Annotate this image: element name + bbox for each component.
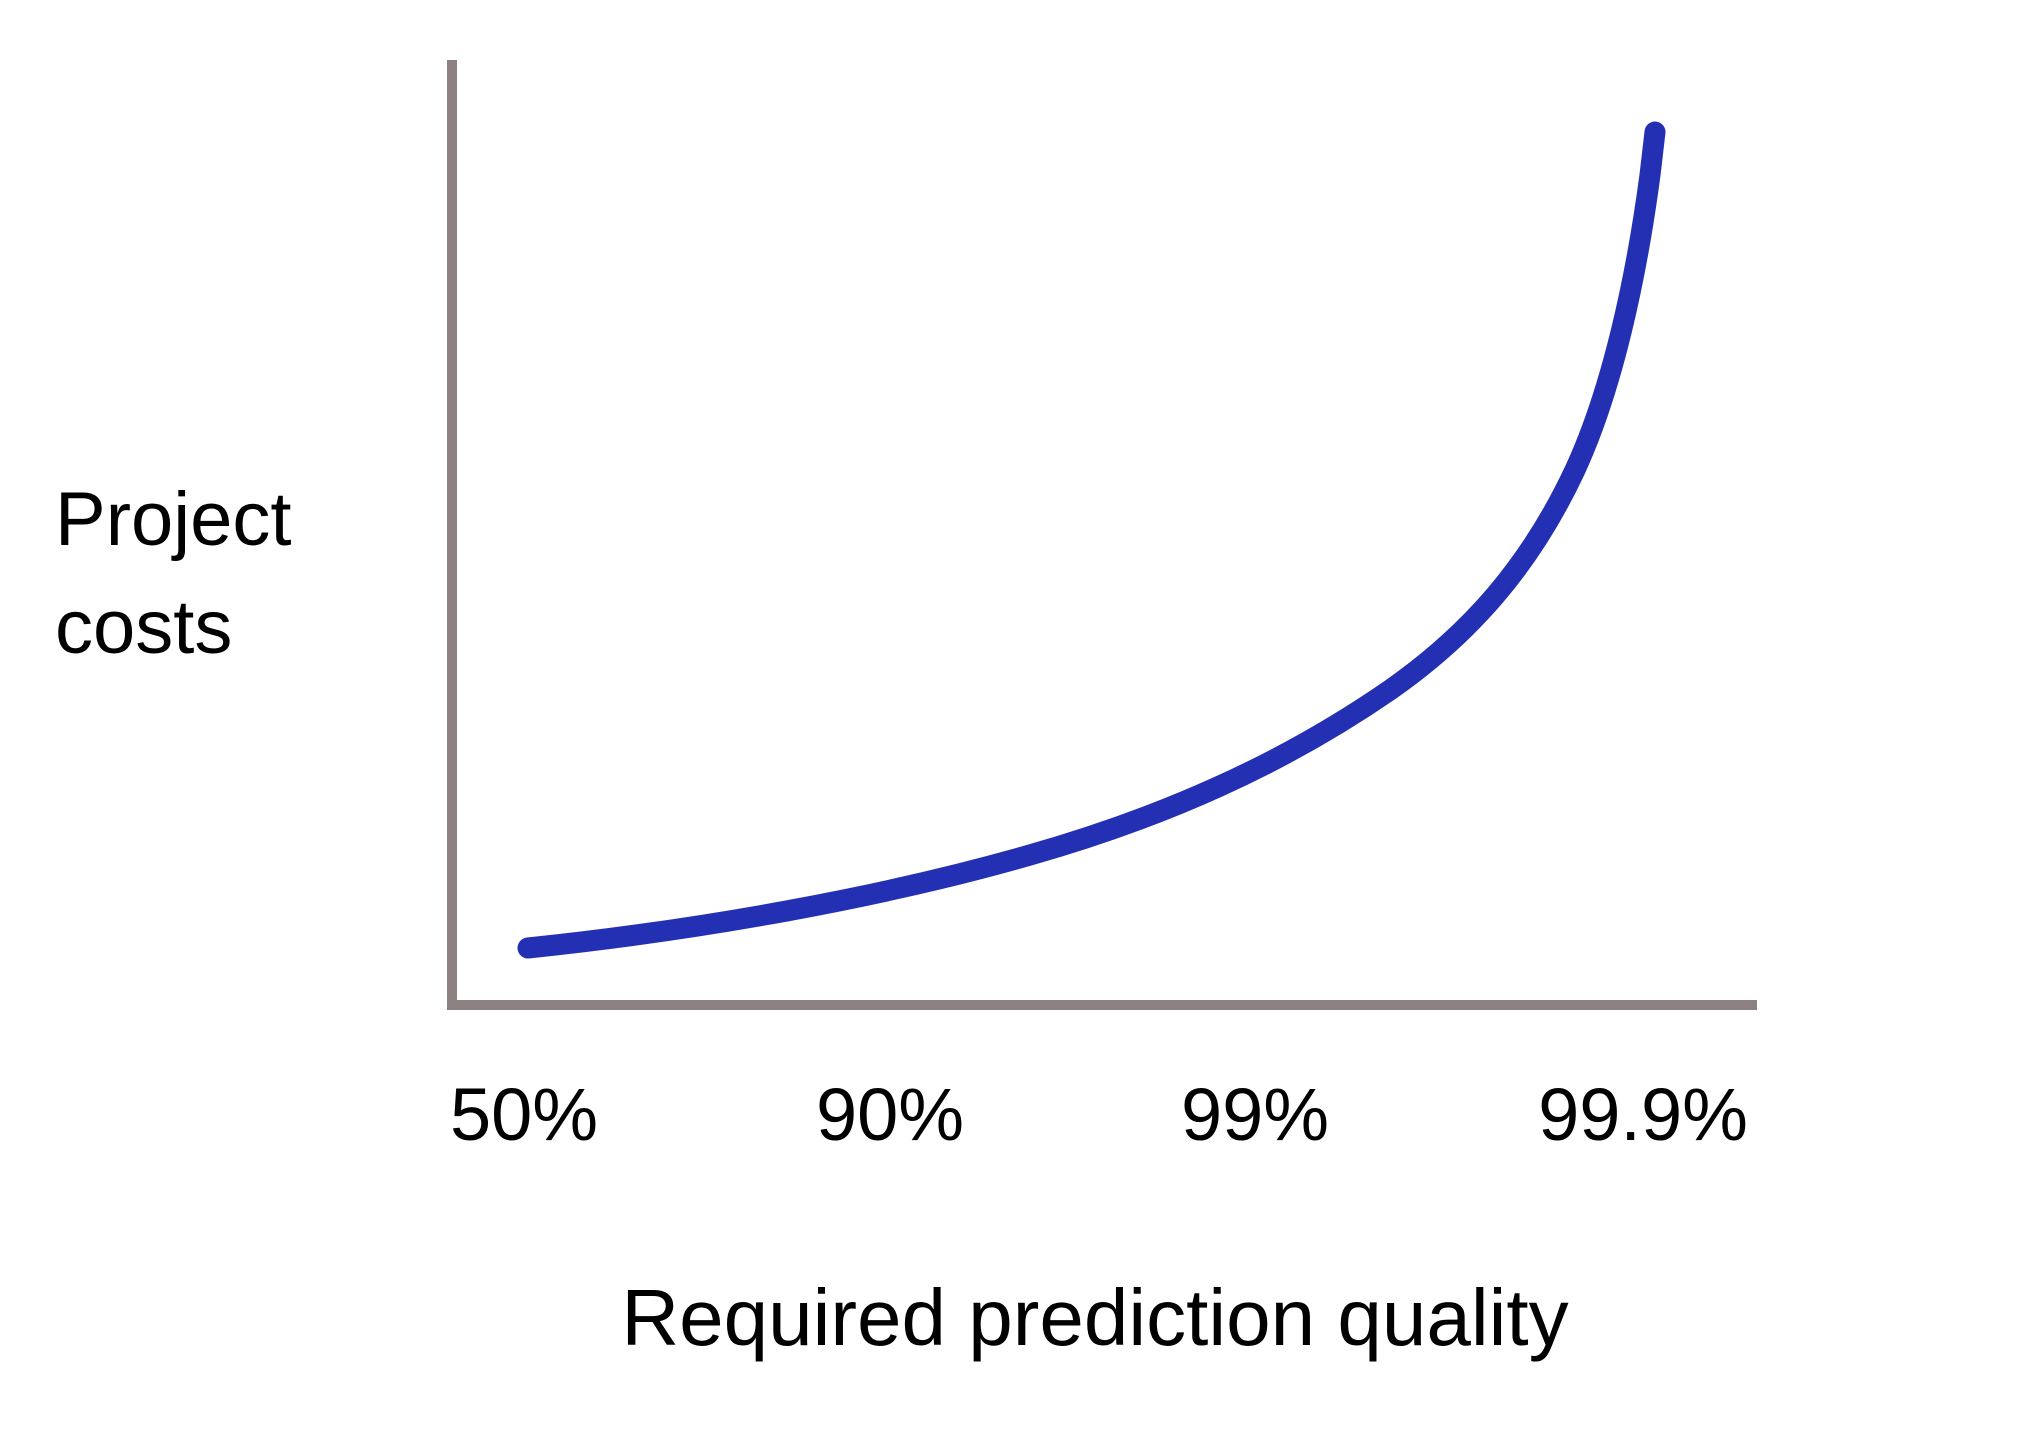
x-tick-label-0: 50% — [450, 1073, 598, 1156]
x-tick-label-2: 99% — [1181, 1073, 1329, 1156]
x-axis-title: Required prediction quality — [621, 1273, 1568, 1362]
chart-background — [0, 0, 2036, 1444]
x-tick-label-1: 90% — [816, 1073, 964, 1156]
project-costs-line-chart: 50% 90% 99% 99.9% Project costs Required… — [0, 0, 2036, 1444]
chart-canvas: 50% 90% 99% 99.9% Project costs Required… — [0, 0, 2036, 1444]
y-axis-title-line-2: costs — [55, 585, 232, 670]
y-axis-title-line-1: Project — [55, 477, 292, 562]
x-tick-label-3: 99.9% — [1538, 1073, 1748, 1156]
